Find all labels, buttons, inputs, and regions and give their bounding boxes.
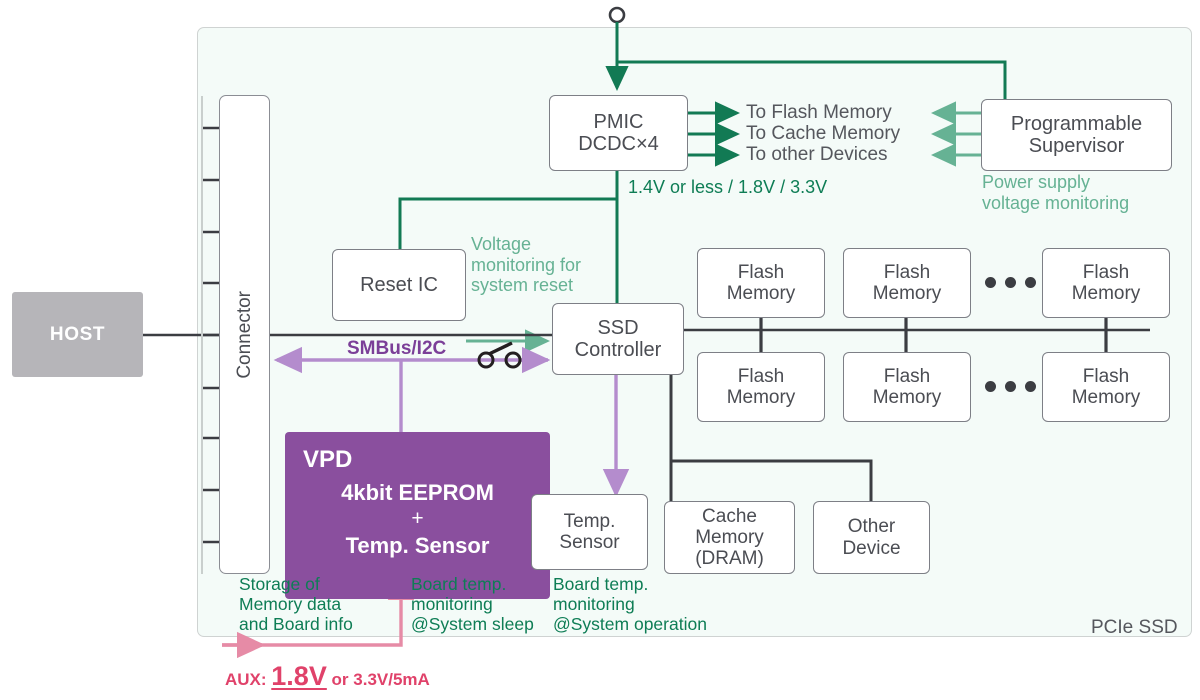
supervisor-line1: Programmable — [1011, 113, 1142, 135]
cache-memory-line2: Memory — [695, 527, 764, 548]
vpd-line2: 4kbit EEPROM — [303, 480, 532, 506]
flash-memory-block[interactable]: Flash Memory — [697, 248, 825, 318]
flash-memory-block[interactable]: Flash Memory — [697, 352, 825, 422]
vpd-line4: Temp. Sensor — [303, 533, 532, 559]
temp-sensor-line2: Sensor — [559, 532, 619, 553]
flash-row2-ellipsis-icon — [985, 381, 1036, 392]
rail-target-other-label: To other Devices — [746, 144, 888, 166]
flash-line1: Flash — [1083, 366, 1129, 387]
ssd-controller-line1: SSD — [597, 317, 638, 339]
flash-memory-block[interactable]: Flash Memory — [843, 352, 971, 422]
supervisor-line2: Supervisor — [1029, 135, 1125, 157]
smbus-switch-icon — [479, 343, 520, 367]
flash-line2: Memory — [873, 387, 942, 408]
aux-value: 1.8V — [271, 661, 327, 691]
programmable-supervisor-block[interactable]: Programmable Supervisor — [981, 99, 1172, 171]
pmic-line1: PMIC — [594, 111, 644, 133]
supervisor-note-line1: Power supply — [982, 172, 1129, 193]
connector-label: Connector — [234, 291, 255, 379]
diagram-canvas: HOST Connector PMIC DCDC×4 Programmable … — [0, 0, 1200, 700]
flash-line1: Flash — [738, 262, 784, 283]
cache-memory-line3: (DRAM) — [695, 548, 764, 569]
host-block[interactable]: HOST — [12, 292, 143, 377]
reset-note-line1: Voltage — [471, 234, 581, 255]
flash-line2: Memory — [727, 387, 796, 408]
temp-sensor-line1: Temp. — [564, 511, 616, 532]
flash-bus-stubs — [761, 318, 1106, 352]
connector-block[interactable]: Connector — [219, 95, 270, 574]
flash-memory-block[interactable]: Flash Memory — [1042, 352, 1170, 422]
power-input-terminal-icon — [610, 8, 624, 22]
flash-memory-block[interactable]: Flash Memory — [1042, 248, 1170, 318]
power-to-supervisor-wire — [617, 62, 1005, 99]
pmic-line2: DCDC×4 — [578, 133, 659, 155]
reset-ic-label: Reset IC — [360, 274, 438, 296]
host-label: HOST — [50, 324, 105, 345]
other-device-line1: Other — [848, 516, 896, 537]
flash-memory-block[interactable]: Flash Memory — [843, 248, 971, 318]
aux-power-label: AUX: 1.8V or 3.3V/5mA — [225, 661, 430, 692]
vpd-line1: VPD — [303, 446, 532, 474]
other-device-block[interactable]: Other Device — [813, 501, 930, 574]
connector-pins — [202, 128, 219, 542]
pcie-ssd-frame-label: PCIe SSD — [1091, 617, 1178, 639]
supervisor-note: Power supply voltage monitoring — [982, 172, 1129, 213]
temp-sensor-block[interactable]: Temp. Sensor — [531, 494, 648, 570]
flash-line2: Memory — [727, 283, 796, 304]
ssd-controller-block[interactable]: SSD Controller — [552, 303, 684, 375]
aux-suffix: or 3.3V/5mA — [327, 670, 430, 689]
sleep-note-line1: Board temp. — [411, 575, 534, 595]
aux-prefix: AUX: — [225, 670, 271, 689]
vpd-line3: + — [303, 507, 532, 531]
flash-line2: Memory — [1072, 283, 1141, 304]
flash-line2: Memory — [1072, 387, 1141, 408]
supervisor-note-line2: voltage monitoring — [982, 193, 1129, 214]
operation-note-line1: Board temp. — [553, 575, 707, 595]
operation-note: Board temp. monitoring @System operation — [553, 575, 707, 635]
ssd-controller-line2: Controller — [575, 339, 662, 361]
operation-note-line3: @System operation — [553, 615, 707, 635]
voltage-rail-label: 1.4V or less / 1.8V / 3.3V — [628, 177, 827, 198]
flash-line1: Flash — [884, 366, 930, 387]
vpd-note-line3: and Board info — [239, 615, 353, 635]
reset-ic-block[interactable]: Reset IC — [332, 249, 466, 321]
smbus-label: SMBus/I2C — [347, 338, 446, 360]
flash-row1-ellipsis-icon — [985, 277, 1036, 288]
sleep-note-line2: monitoring — [411, 595, 534, 615]
cache-memory-line1: Cache — [702, 506, 757, 527]
vpd-note-line1: Storage of — [239, 575, 353, 595]
sleep-note: Board temp. monitoring @System sleep — [411, 575, 534, 635]
reset-note-line2: monitoring for — [471, 255, 581, 276]
flash-line1: Flash — [884, 262, 930, 283]
vpd-note-line2: Memory data — [239, 595, 353, 615]
reset-note-line3: system reset — [471, 275, 581, 296]
other-device-line2: Device — [842, 538, 900, 559]
operation-note-line2: monitoring — [553, 595, 707, 615]
rail-target-cache-label: To Cache Memory — [746, 123, 900, 145]
flash-line1: Flash — [738, 366, 784, 387]
controller-to-other-device-wire — [671, 461, 871, 501]
flash-line2: Memory — [873, 283, 942, 304]
cache-memory-block[interactable]: Cache Memory (DRAM) — [664, 501, 795, 574]
vpd-note: Storage of Memory data and Board info — [239, 575, 353, 635]
rail-target-flash-label: To Flash Memory — [746, 102, 892, 124]
flash-line1: Flash — [1083, 262, 1129, 283]
reset-note: Voltage monitoring for system reset — [471, 234, 581, 296]
pmic-block[interactable]: PMIC DCDC×4 — [549, 95, 688, 171]
sleep-note-line3: @System sleep — [411, 615, 534, 635]
